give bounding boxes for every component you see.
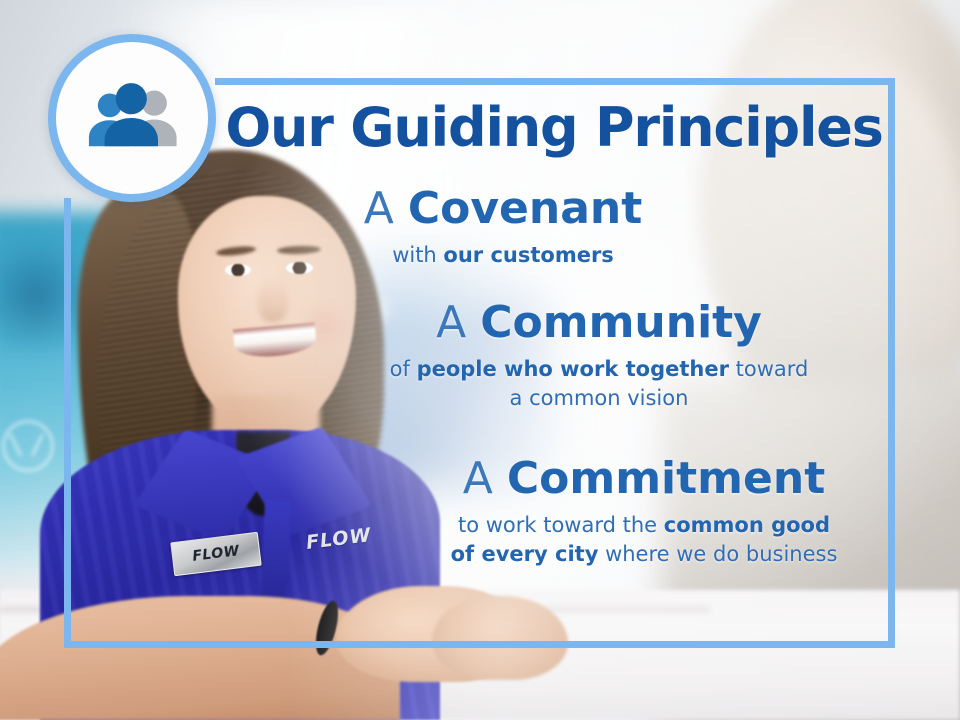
principle-commitment: A Commitment to work toward the common g… xyxy=(404,456,884,569)
keyword: Community xyxy=(480,297,762,348)
principle-community-headline: A Community xyxy=(364,300,834,346)
principle-covenant: A Covenant with our customers xyxy=(291,186,715,270)
article: A xyxy=(463,453,507,504)
principle-commitment-subtitle: to work toward the common good of every … xyxy=(444,511,844,569)
sub-part-plain: of xyxy=(390,357,417,381)
article: A xyxy=(364,183,408,234)
principle-commitment-headline: A Commitment xyxy=(404,456,884,502)
sub-part-plain: where we do business xyxy=(598,542,837,566)
page-title: Our Guiding Principles xyxy=(214,100,894,155)
guiding-principles-graphic: FLOW FLOW Our Guidin xyxy=(0,0,960,720)
principle-covenant-headline: A Covenant xyxy=(291,186,715,232)
sub-part-plain: to work toward the xyxy=(458,513,664,537)
sub-part-bold: our customers xyxy=(443,243,613,267)
text-content-layer: Our Guiding Principles A Covenant with o… xyxy=(64,78,895,648)
principle-covenant-subtitle: with our customers xyxy=(291,241,715,270)
principle-community-subtitle: of people who work together toward a com… xyxy=(389,355,809,413)
sub-part-bold: people who work together xyxy=(417,357,729,381)
keyword: Commitment xyxy=(507,453,825,504)
principle-community: A Community of people who work together … xyxy=(364,300,834,413)
article: A xyxy=(436,297,480,348)
keyword: Covenant xyxy=(408,183,642,234)
sub-part-plain: with xyxy=(392,243,443,267)
